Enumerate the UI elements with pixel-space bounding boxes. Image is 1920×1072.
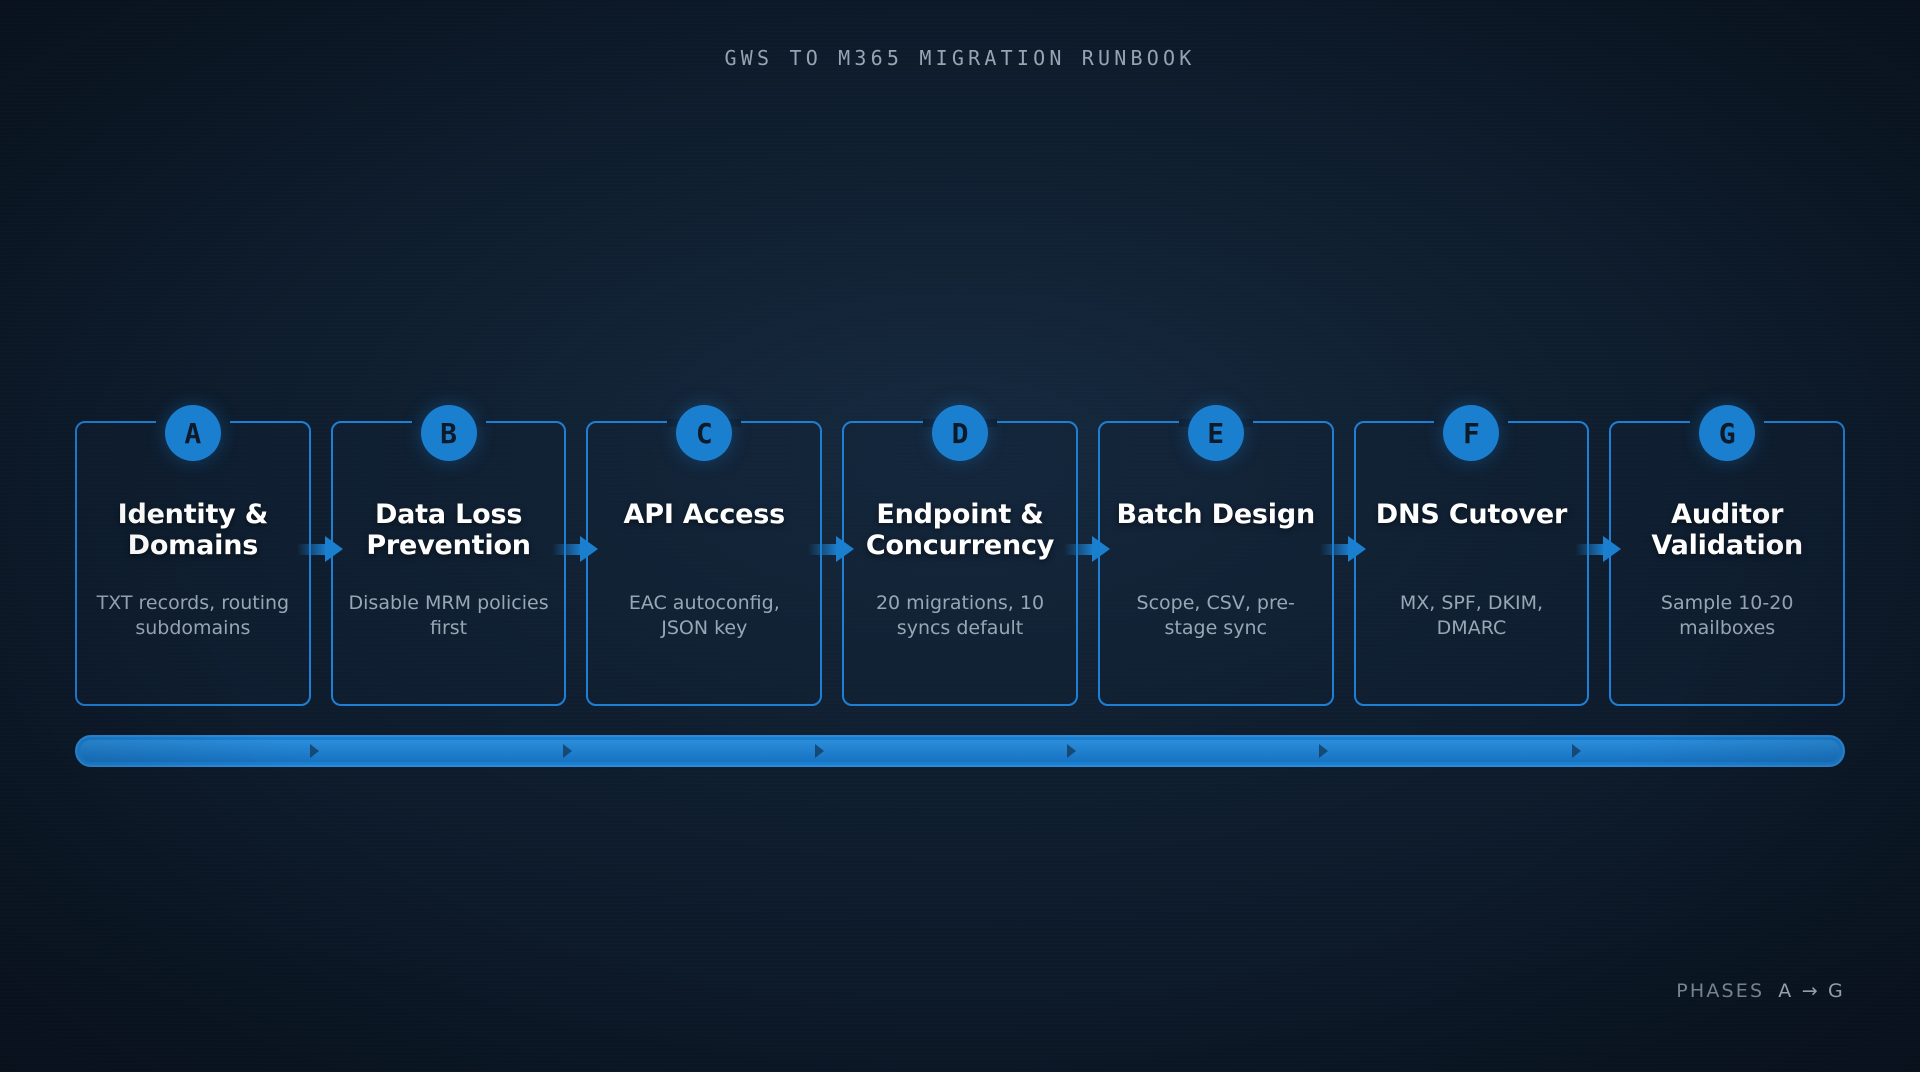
phase-f[interactable]: DNS CutoverMX, SPF, DKIM, DMARCF (1354, 405, 1590, 705)
phase-title: Endpoint & Concurrency (854, 499, 1066, 562)
phase-title: Batch Design (1110, 499, 1322, 530)
flow-arrow-icon (1064, 536, 1110, 562)
chevron-right-icon (563, 744, 572, 758)
page-title: GWS TO M365 MIGRATION RUNBOOK (0, 46, 1920, 70)
phase-description: 20 migrations, 10 syncs default (858, 591, 1062, 641)
phase-b[interactable]: Data Loss PreventionDisable MRM policies… (331, 405, 567, 705)
chevron-right-icon (1067, 744, 1076, 758)
footer: PHASES A → G (1676, 980, 1845, 1002)
chevron-right-icon (310, 744, 319, 758)
flow-arrow-icon (297, 536, 343, 562)
phase-card[interactable]: DNS CutoverMX, SPF, DKIM, DMARC (1354, 421, 1590, 706)
arrow-head (1092, 536, 1110, 562)
phase-a[interactable]: Identity & DomainsTXT records, routing s… (75, 405, 311, 705)
flow-arrow-icon (552, 536, 598, 562)
progress-rail-segment (1086, 737, 1338, 765)
arrow-head (325, 536, 343, 562)
progress-rail-segment (77, 737, 329, 765)
arrow-tail (808, 544, 838, 555)
phase-description: Sample 10-20 mailboxes (1625, 591, 1829, 641)
phase-card[interactable]: Endpoint & Concurrency20 migrations, 10 … (842, 421, 1078, 706)
arrow-head (580, 536, 598, 562)
arrow-head (836, 536, 854, 562)
phase-card[interactable]: Batch DesignScope, CSV, pre-stage sync (1098, 421, 1334, 706)
phase-d[interactable]: Endpoint & Concurrency20 migrations, 10 … (842, 405, 1078, 705)
arrow-tail (1064, 544, 1094, 555)
phase-title: DNS Cutover (1366, 499, 1578, 530)
phase-badge-e: E (1188, 405, 1244, 461)
arrow-tail (297, 544, 327, 555)
phase-card[interactable]: Auditor ValidationSample 10-20 mailboxes (1609, 421, 1845, 706)
arrow-tail (1320, 544, 1350, 555)
chevron-right-icon (1319, 744, 1328, 758)
progress-rail-segment (582, 737, 834, 765)
phase-card[interactable]: Data Loss PreventionDisable MRM policies… (331, 421, 567, 706)
phase-flow: Identity & DomainsTXT records, routing s… (75, 405, 1845, 705)
arrow-tail (552, 544, 582, 555)
phase-description: Scope, CSV, pre-stage sync (1114, 591, 1318, 641)
arrow-tail (1575, 544, 1605, 555)
phase-description: Disable MRM policies first (347, 591, 551, 641)
progress-rail-segment (329, 737, 581, 765)
phase-badge-c: C (676, 405, 732, 461)
phase-title: API Access (598, 499, 810, 530)
phase-title: Auditor Validation (1621, 499, 1833, 562)
arrow-head (1348, 536, 1366, 562)
footer-phases-label: PHASES (1676, 980, 1764, 1002)
progress-rail-segment (1338, 737, 1590, 765)
flow-arrow-icon (1320, 536, 1366, 562)
chevron-right-icon (1572, 744, 1581, 758)
progress-rail-segment (1591, 737, 1843, 765)
flow-arrow-icon (1575, 536, 1621, 562)
phase-badge-g: G (1699, 405, 1755, 461)
phase-badge-d: D (932, 405, 988, 461)
progress-rail (75, 735, 1845, 767)
flow-arrow-icon (808, 536, 854, 562)
chevron-right-icon (815, 744, 824, 758)
progress-rail-segment (834, 737, 1086, 765)
phase-description: EAC autoconfig, JSON key (602, 591, 806, 641)
phase-badge-a: A (165, 405, 221, 461)
phase-card[interactable]: API AccessEAC autoconfig, JSON key (586, 421, 822, 706)
phase-e[interactable]: Batch DesignScope, CSV, pre-stage syncE (1098, 405, 1334, 705)
phase-card[interactable]: Identity & DomainsTXT records, routing s… (75, 421, 311, 706)
phase-title: Identity & Domains (87, 499, 299, 562)
footer-phase-range: A → G (1778, 980, 1845, 1002)
phase-g[interactable]: Auditor ValidationSample 10-20 mailboxes… (1609, 405, 1845, 705)
phase-badge-b: B (421, 405, 477, 461)
phase-badge-f: F (1443, 405, 1499, 461)
phase-description: TXT records, routing subdomains (91, 591, 295, 641)
phase-c[interactable]: API AccessEAC autoconfig, JSON keyC (586, 405, 822, 705)
arrow-head (1603, 536, 1621, 562)
phase-description: MX, SPF, DKIM, DMARC (1370, 591, 1574, 641)
phase-title: Data Loss Prevention (343, 499, 555, 562)
